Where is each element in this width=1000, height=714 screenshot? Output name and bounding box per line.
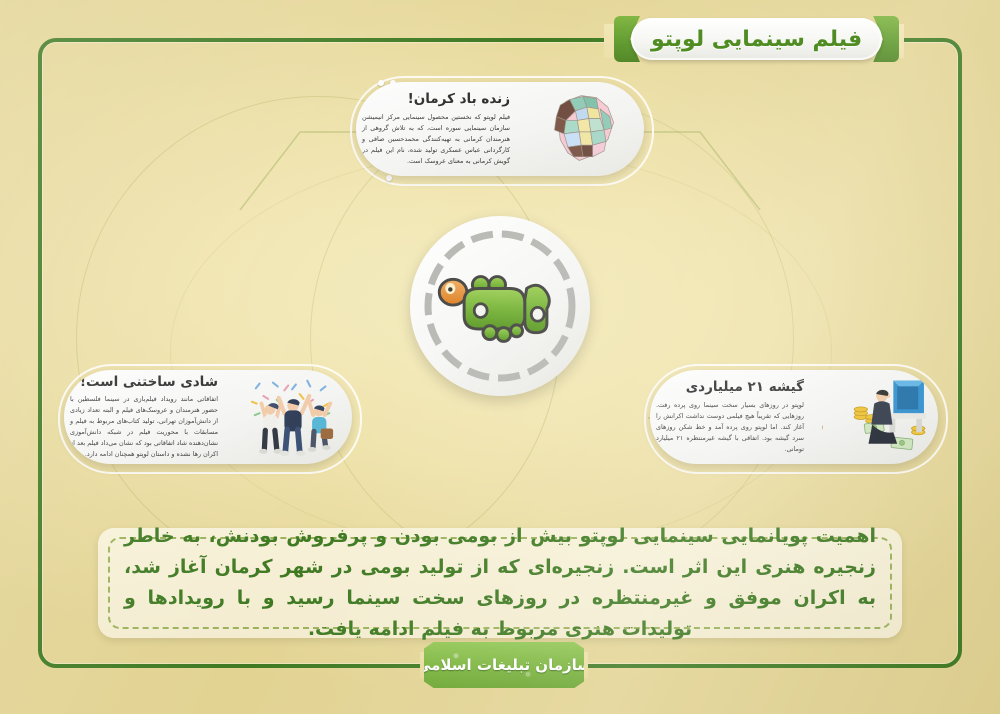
page-title-badge: فیلم سینمایی لوپتو bbox=[614, 16, 899, 62]
celebrating-people-icon bbox=[234, 370, 352, 464]
info-card-kerman-title: زنده باد کرمان! bbox=[362, 91, 510, 107]
page-title: فیلم سینمایی لوپتو bbox=[651, 27, 862, 52]
info-card-boxoffice-title: گیشه ۲۱ میلیاردی bbox=[656, 379, 804, 395]
summary-text: اهمیت پویانمایی سینمایی لوپتو بیش از بوم… bbox=[98, 521, 902, 644]
info-card-kerman-body: زنده باد کرمان! فیلم لوپتو که نخستین محص… bbox=[356, 83, 526, 174]
info-card-joy-text: اتفاقاتی مانند رویداد فیلم‌بازی در سینما… bbox=[70, 394, 218, 460]
footer-emblem: سازمان تبلیغات اسلامی bbox=[424, 642, 584, 688]
info-card-boxoffice[interactable]: ۲۱,۰۰۰,۰۰۰,۰۰۰ bbox=[650, 370, 938, 464]
info-card-joy-title: شادی ساختنی است! bbox=[70, 374, 218, 390]
info-card-boxoffice-body: گیشه ۲۱ میلیاردی لوپتو در روزهای بسیار س… bbox=[650, 371, 820, 462]
page-title-pill: فیلم سینمایی لوپتو bbox=[631, 18, 882, 60]
info-card-kerman[interactable]: زنده باد کرمان! فیلم لوپتو که نخستین محص… bbox=[356, 82, 644, 176]
box-office-money-icon: ۲۱,۰۰۰,۰۰۰,۰۰۰ bbox=[820, 370, 938, 464]
footer-emblem-text: سازمان تبلیغات اسلامی bbox=[416, 656, 592, 674]
center-logo-disc bbox=[410, 216, 590, 396]
info-card-joy-body: شادی ساختنی است! اتفاقاتی مانند رویداد ف… bbox=[64, 370, 234, 464]
info-card-joy[interactable]: شادی ساختنی است! اتفاقاتی مانند رویداد ف… bbox=[64, 370, 352, 464]
iran-map-icon bbox=[526, 82, 644, 176]
card-top-dot-c bbox=[386, 175, 392, 181]
infographic-canvas: فیلم سینمایی لوپتو bbox=[0, 0, 1000, 714]
loopeto-logo-icon bbox=[430, 264, 570, 348]
box-office-amount-text: ۲۱,۰۰۰,۰۰۰,۰۰۰ bbox=[822, 414, 826, 437]
summary-panel: اهمیت پویانمایی سینمایی لوپتو بیش از بوم… bbox=[98, 528, 902, 638]
info-card-boxoffice-text: لوپتو در روزهای بسیار سخت سینما روی پرده… bbox=[656, 400, 804, 455]
info-card-kerman-text: فیلم لوپتو که نخستین محصول سینمایی مرکز … bbox=[362, 112, 510, 167]
